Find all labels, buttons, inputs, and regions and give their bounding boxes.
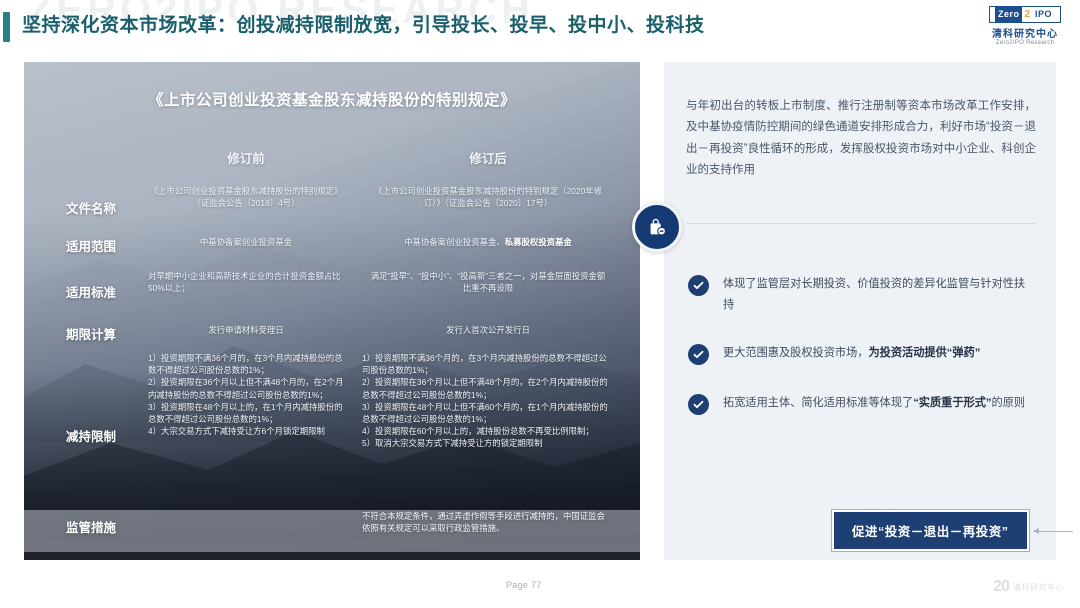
bullet-item: 体现了监管层对长期投资、价值投资的差异化监管与针对性扶持	[688, 274, 1044, 315]
panel-divider	[686, 223, 1036, 224]
brand-two-text: 2	[1022, 7, 1032, 22]
bullet-text-tail: 的原则	[992, 397, 1026, 409]
cell-regulatory-measures-after: 不符合本规定条件，通过弄虚作假等手段进行减持的，中国证监会依照有关规定可以采取行…	[362, 510, 610, 534]
check-circle-icon	[688, 344, 709, 365]
slide-body: 《上市公司创业投资基金股东减持股份的特别规定》 修订前 修订后 文件名称 《上市…	[24, 62, 1056, 560]
cell-criteria-before: 对早期中小企业和高新技术企业的合计投资金额占比50%以上；	[148, 270, 344, 294]
cell-term-calculation-before: 发行申请材料受理日	[148, 324, 344, 336]
brand-chinese-name: 清科研究中心	[982, 25, 1068, 40]
cell-scope-before: 中基协备案创业投资基金	[148, 236, 344, 248]
bullet-text-plain: 体现了监管层对长期投资、价值投资的差异化监管与针对性扶持	[723, 278, 1025, 311]
row-label-document-name: 文件名称	[38, 198, 144, 217]
bullet-text: 更大范围惠及股权投资市场，为投资活动提供“弹药”	[723, 343, 1035, 364]
bullet-text: 拓宽适用主体、简化适用标准等体现了“实质重于形式”的原则	[723, 393, 1035, 414]
bullet-text-bold: “实质重于形式”	[913, 397, 991, 409]
cell-document-name-after: 《上市公司创业投资基金股东减持股份的特别规定（2020年修订）》（证监会公告〔2…	[371, 185, 605, 209]
bullet-item: 更大范围惠及股权投资市场，为投资活动提供“弹药”	[688, 343, 1044, 365]
bullet-text-bold: 为投资活动提供“弹药”	[868, 347, 980, 359]
footer-logo-text: 清科研究中心	[1013, 582, 1064, 593]
page-number: Page 77	[506, 580, 542, 590]
brand-ipo-text: IPO	[1032, 7, 1055, 22]
callout-box: 促进“投资－退出－再投资”	[832, 510, 1029, 551]
bullet-text-plain: 拓宽适用主体、简化适用标准等体现了	[723, 397, 913, 409]
row-label-regulatory-measures: 监管措施	[38, 517, 144, 536]
column-header-after: 修订后	[354, 148, 622, 167]
column-header-before: 修订前	[148, 148, 344, 167]
check-circle-icon	[688, 275, 709, 296]
page-header: 坚持深化资本市场改革：创投减持限制放宽，引导投长、投早、投中小、投科技	[0, 10, 1080, 44]
shopping-bag-minus-icon	[632, 202, 682, 252]
bullet-text-plain: 更大范围惠及股权投资市场，	[723, 347, 868, 359]
cell-reduction-limit-before: 1）投资期限不满36个月的，在3个月内减持股份的总数不得超过公司股份总数的1%；…	[148, 352, 344, 437]
check-circle-icon	[688, 394, 709, 415]
brand-zero-text: Zero	[995, 7, 1023, 22]
callout-arrow-icon	[1033, 531, 1073, 532]
table-title: 《上市公司创业投资基金股东减持股份的特别规定》	[24, 88, 640, 110]
row-label-reduction-limit: 减持限制	[38, 426, 144, 445]
cell-scope-after-emphasis: 私募股权投资基金	[505, 237, 572, 247]
footer-logo-mark: 20	[993, 578, 1009, 596]
row-label-criteria: 适用标准	[38, 282, 144, 301]
title-accent-bar	[3, 12, 10, 42]
comparison-table-card: 《上市公司创业投资基金股东减持股份的特别规定》 修订前 修订后 文件名称 《上市…	[24, 62, 640, 560]
intro-paragraph: 与年初出台的转板上市制度、推行注册制等资本市场改革工作安排，及中基协疫情防控期间…	[686, 96, 1036, 181]
table-bottom-edge	[24, 552, 640, 560]
cell-term-calculation-after: 发行人首次公开发行日	[354, 324, 622, 336]
cell-scope-after-plain: 中基协备案创业投资基金、	[404, 237, 505, 247]
callout-container: 促进“投资－退出－再投资”	[832, 510, 1029, 551]
row-label-scope: 适用范围	[38, 236, 144, 255]
bullet-text: 体现了监管层对长期投资、价值投资的差异化监管与针对性扶持	[723, 274, 1035, 315]
commentary-panel: 与年初出台的转板上市制度、推行注册制等资本市场改革工作安排，及中基协疫情防控期间…	[664, 62, 1056, 560]
brand-english-name: Zero2IPO Research	[982, 40, 1068, 46]
bullet-list: 体现了监管层对长期投资、价值投资的差异化监管与针对性扶持 更大范围惠及股权投资市…	[688, 274, 1044, 443]
brand-logo-mark: Zero 2 IPO	[989, 6, 1061, 23]
row-label-term-calculation: 期限计算	[38, 324, 144, 343]
footer-logo: 20 清科研究中心	[993, 578, 1064, 596]
cell-criteria-after: 满足“投早”、“投中小”、“投高新”三者之一，对基金层面投资金额比重不再设限	[368, 270, 608, 294]
cell-document-name-before: 《上市公司创业投资基金股东减持股份的特别规定》（证监会公告〔2018〕4号）	[148, 185, 344, 209]
bullet-item: 拓宽适用主体、简化适用标准等体现了“实质重于形式”的原则	[688, 393, 1044, 415]
page-title: 坚持深化资本市场改革：创投减持限制放宽，引导投长、投早、投中小、投科技	[22, 10, 705, 42]
cell-scope-after: 中基协备案创业投资基金、私募股权投资基金	[354, 236, 622, 248]
cell-reduction-limit-after: 1）投资期限不满36个月的，在3个月内减持股份的总数不得超过公司股份总数的1%；…	[362, 352, 612, 450]
brand-logo: Zero 2 IPO 清科研究中心 Zero2IPO Research	[982, 6, 1068, 46]
